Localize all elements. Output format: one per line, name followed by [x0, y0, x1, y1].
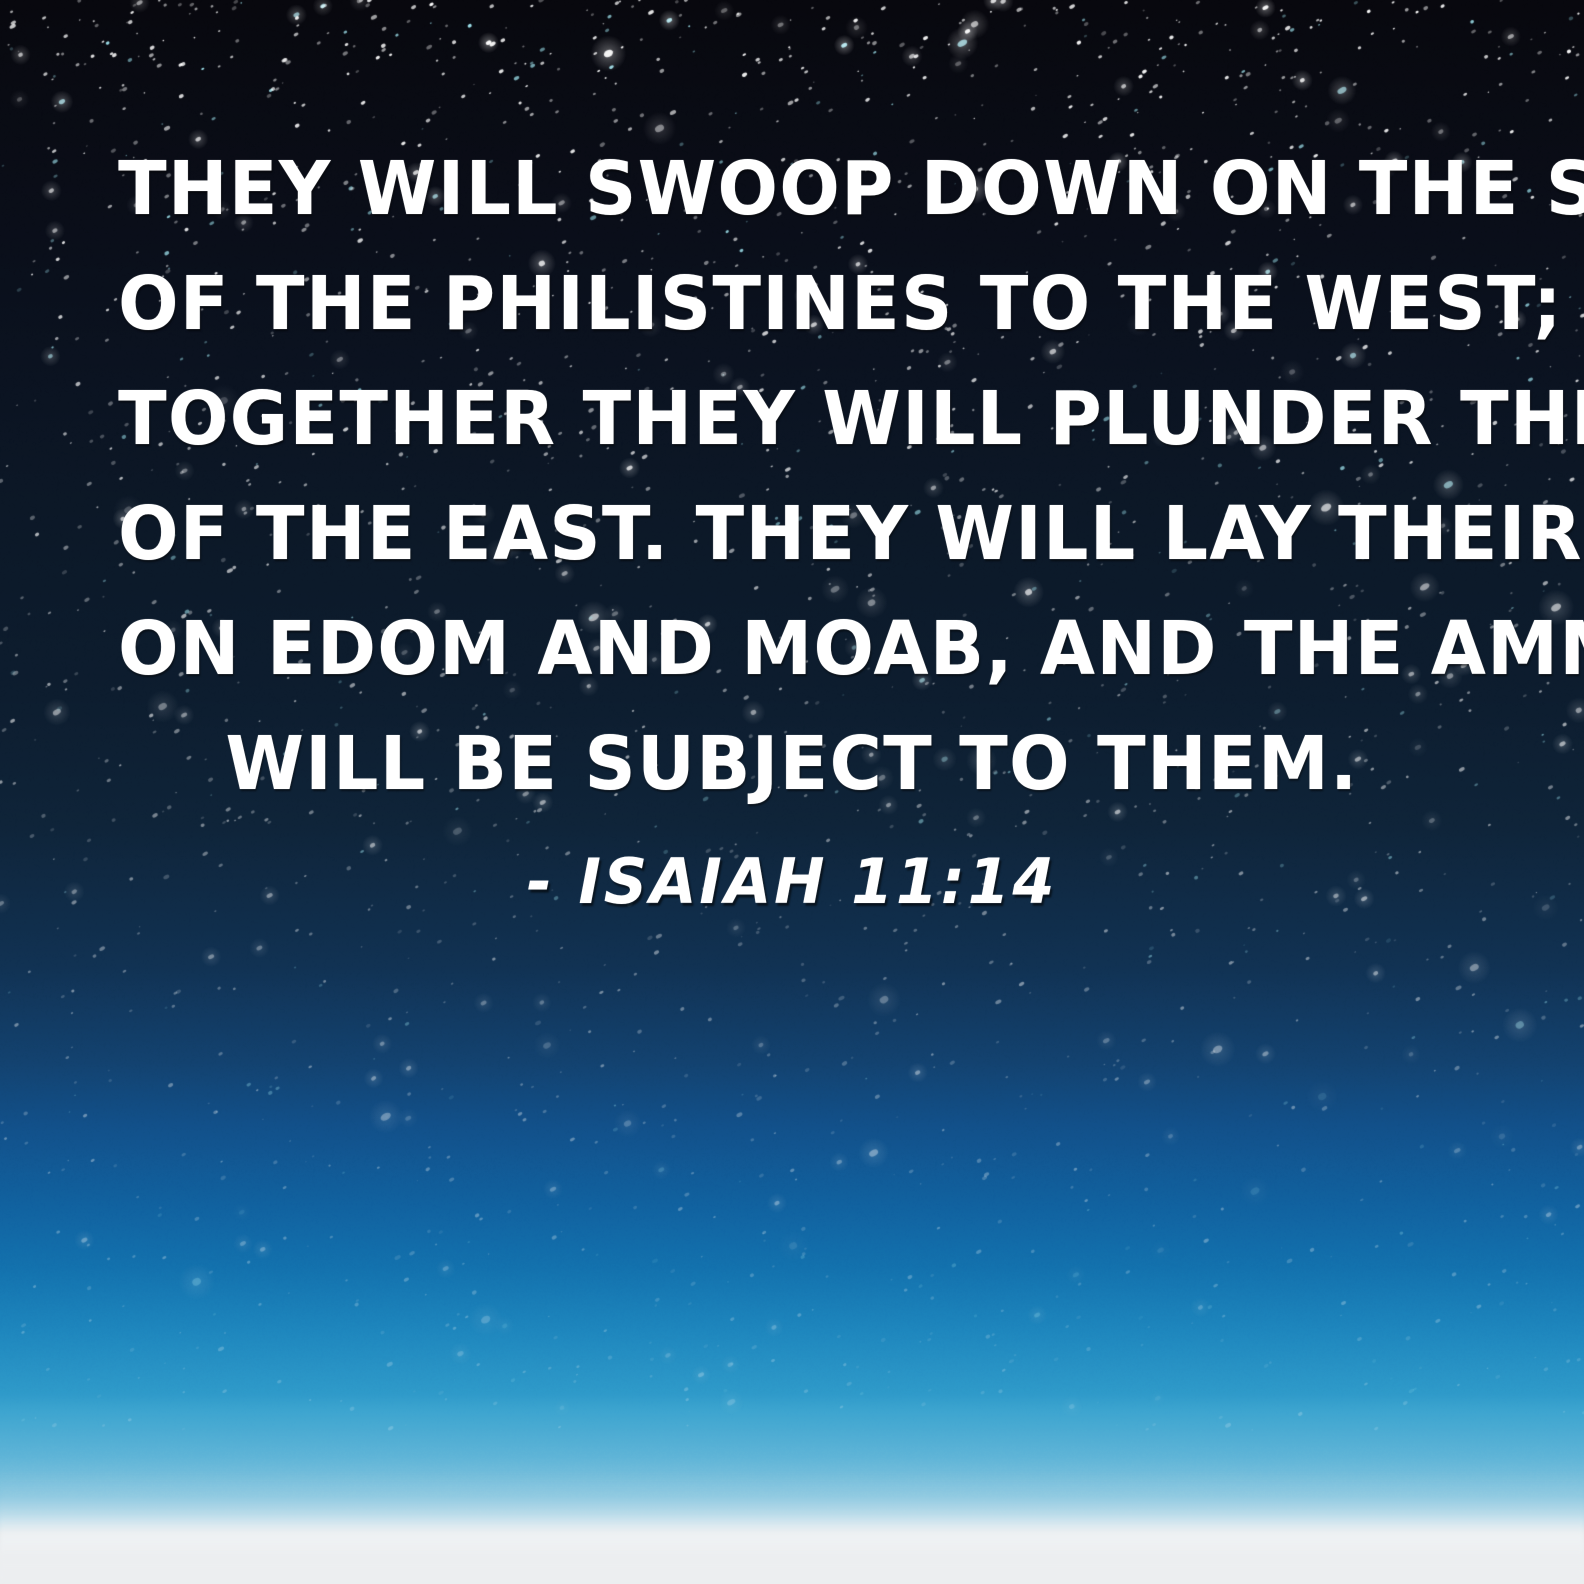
verse-text-block: THEY WILL SWOOP DOWN ON THE SLOPES OF TH…: [0, 132, 1584, 822]
verse-line: TOGETHER THEY WILL PLUNDER THE SONS: [118, 362, 1466, 477]
verse-line: OF THE PHILISTINES TO THE WEST;: [118, 247, 1466, 362]
verse-reference: - ISAIAH 11:14: [24, 845, 1560, 918]
verse-line: THEY WILL SWOOP DOWN ON THE SLOPES: [118, 132, 1466, 247]
verse-line: ON EDOM AND MOAB, AND THE AMMONITES: [118, 592, 1466, 707]
horizon-glow: [0, 1470, 1584, 1580]
verse-line: WILL BE SUBJECT TO THEM.: [118, 707, 1466, 822]
verse-line: OF THE EAST. THEY WILL LAY THEIR HANDS: [118, 477, 1466, 592]
verse-image-canvas: THEY WILL SWOOP DOWN ON THE SLOPES OF TH…: [0, 0, 1584, 1584]
